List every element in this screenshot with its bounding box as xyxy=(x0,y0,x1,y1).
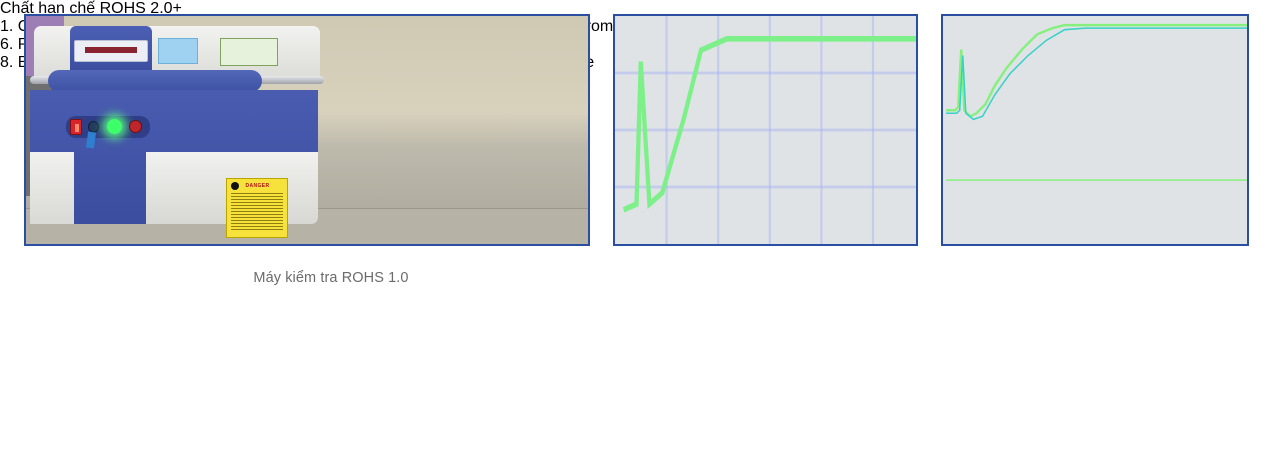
status-led-red xyxy=(129,120,142,133)
figure-rohs-1: DANGER xyxy=(24,14,590,246)
figure-rohs-2: Máy kiểm tra ROHS 2.0 xyxy=(613,14,918,246)
chromatogram-plot xyxy=(943,16,1247,191)
machine-blue-sticker xyxy=(158,38,198,64)
danger-label-body xyxy=(231,193,283,234)
xrf-spectrometer: DANGER xyxy=(28,26,328,222)
photo-frame-2[interactable] xyxy=(613,14,918,246)
machine-door-handle xyxy=(30,70,324,92)
figure-rohs-3: Lenovo Đồ thị thử nghiệm ROHS 2.0 xyxy=(941,14,1249,246)
page-root: DANGER xyxy=(0,0,1277,468)
chromatogram-area xyxy=(943,16,1247,191)
lenovo-monitor[interactable]: Lenovo xyxy=(943,16,1247,244)
danger-label-text: DANGER xyxy=(231,182,284,190)
machine-green-sticker xyxy=(220,38,278,66)
photo-frame-3[interactable]: Lenovo xyxy=(941,14,1249,246)
machine-front-white-left xyxy=(30,152,74,224)
chromatography-software xyxy=(943,16,1247,244)
photo-chromatogram-monitor: Lenovo xyxy=(943,16,1247,244)
photo-frame-1[interactable]: DANGER xyxy=(24,14,590,246)
radiation-danger-label: DANGER xyxy=(226,178,288,238)
figure-caption-2: Máy kiểm tra ROHS 2.0 xyxy=(1226,270,1277,286)
machine-brand-label xyxy=(74,40,148,62)
photo-technician-hplc xyxy=(615,16,916,244)
monitor-screen[interactable] xyxy=(943,16,1247,244)
software-control-panel[interactable] xyxy=(943,191,1247,244)
figure-caption-1: Máy kiểm tra ROHS 1.0 xyxy=(48,270,614,286)
photo-xrf-machine: DANGER xyxy=(26,16,588,244)
status-led-green xyxy=(107,119,122,134)
power-switch[interactable] xyxy=(70,119,82,135)
image-gallery: DANGER xyxy=(0,0,1277,285)
